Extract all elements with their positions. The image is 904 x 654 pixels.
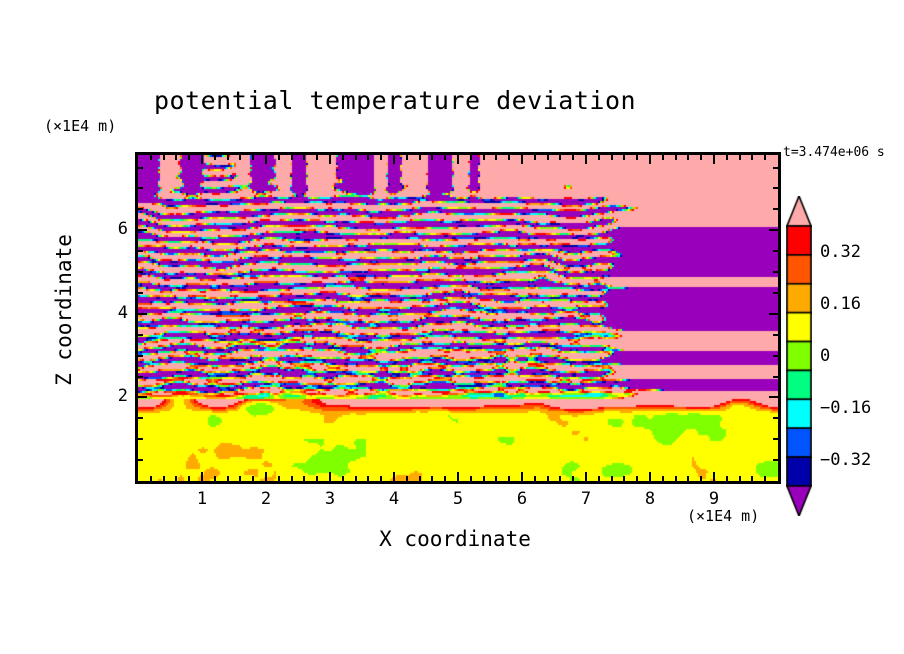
- x-tick-major: [201, 472, 203, 481]
- x-tick-minor: [188, 155, 190, 160]
- y-tick-minor: [773, 292, 778, 294]
- x-tick-label: 6: [507, 489, 537, 509]
- y-tick-label: 2: [98, 386, 128, 406]
- y-tick-minor: [773, 167, 778, 169]
- x-tick-minor: [483, 476, 485, 481]
- x-tick-minor: [636, 476, 638, 481]
- x-tick-minor: [508, 476, 510, 481]
- x-tick-minor: [687, 476, 689, 481]
- x-tick-major: [585, 155, 587, 164]
- y-axis-title: Z coordinate: [52, 210, 76, 410]
- x-tick-minor: [214, 476, 216, 481]
- x-tick-major: [585, 472, 587, 481]
- x-tick-label: 1: [187, 489, 217, 509]
- x-tick-minor: [559, 476, 561, 481]
- y-tick-minor: [773, 271, 778, 273]
- x-tick-minor: [508, 155, 510, 160]
- x-tick-major: [521, 472, 523, 481]
- x-tick-minor: [611, 476, 613, 481]
- x-tick-minor: [239, 155, 241, 160]
- x-tick-minor: [239, 476, 241, 481]
- x-tick-label: 7: [571, 489, 601, 509]
- x-tick-minor: [303, 476, 305, 481]
- x-tick-major: [329, 472, 331, 481]
- x-tick-major: [713, 472, 715, 481]
- x-tick-minor: [188, 476, 190, 481]
- colorbar: [786, 196, 812, 516]
- y-tick-minor: [138, 187, 143, 189]
- contour-field: [138, 155, 778, 481]
- x-tick-label: 8: [635, 489, 665, 509]
- x-tick-major: [713, 155, 715, 164]
- y-tick-major: [769, 396, 778, 398]
- y-tick-minor: [138, 292, 143, 294]
- y-tick-minor: [138, 208, 143, 210]
- y-tick-major: [138, 396, 147, 398]
- x-tick-minor: [163, 155, 165, 160]
- x-tick-minor: [163, 476, 165, 481]
- x-tick-minor: [444, 155, 446, 160]
- y-tick-minor: [138, 355, 143, 357]
- y-tick-minor: [773, 208, 778, 210]
- x-tick-minor: [675, 155, 677, 160]
- x-tick-minor: [726, 155, 728, 160]
- x-tick-major: [457, 472, 459, 481]
- x-tick-minor: [431, 155, 433, 160]
- x-tick-minor: [470, 476, 472, 481]
- x-tick-major: [393, 155, 395, 164]
- plot-area: [135, 152, 781, 484]
- colorbar-label: 0: [820, 346, 830, 366]
- x-tick-minor: [175, 476, 177, 481]
- y-tick-minor: [773, 417, 778, 419]
- y-tick-minor: [138, 334, 143, 336]
- x-tick-minor: [175, 155, 177, 160]
- x-tick-minor: [431, 476, 433, 481]
- x-tick-minor: [623, 155, 625, 160]
- y-tick-minor: [773, 187, 778, 189]
- x-tick-minor: [355, 155, 357, 160]
- x-tick-minor: [598, 155, 600, 160]
- x-tick-major: [649, 472, 651, 481]
- x-tick-minor: [687, 155, 689, 160]
- x-tick-minor: [611, 155, 613, 160]
- page-title: potential temperature deviation: [0, 86, 790, 115]
- x-tick-minor: [534, 155, 536, 160]
- x-tick-minor: [252, 476, 254, 481]
- x-tick-minor: [662, 476, 664, 481]
- y-tick-minor: [773, 438, 778, 440]
- x-tick-minor: [367, 155, 369, 160]
- x-tick-major: [201, 155, 203, 164]
- x-tick-major: [265, 472, 267, 481]
- x-tick-minor: [495, 476, 497, 481]
- x-tick-major: [329, 155, 331, 164]
- x-tick-minor: [252, 155, 254, 160]
- x-tick-minor: [214, 155, 216, 160]
- colorbar-gradient: [786, 196, 812, 516]
- y-tick-major: [138, 313, 147, 315]
- y-tick-major: [769, 229, 778, 231]
- x-tick-minor: [739, 476, 741, 481]
- x-tick-minor: [751, 476, 753, 481]
- y-tick-minor: [773, 334, 778, 336]
- y-tick-minor: [773, 355, 778, 357]
- x-tick-minor: [495, 155, 497, 160]
- colorbar-label: 0.16: [820, 294, 861, 314]
- x-tick-minor: [316, 155, 318, 160]
- x-tick-label: 3: [315, 489, 345, 509]
- x-tick-minor: [547, 155, 549, 160]
- x-tick-minor: [342, 476, 344, 481]
- x-tick-minor: [419, 155, 421, 160]
- x-tick-minor: [406, 476, 408, 481]
- x-tick-major: [457, 155, 459, 164]
- x-tick-minor: [380, 476, 382, 481]
- x-tick-label: 4: [379, 489, 409, 509]
- x-tick-minor: [572, 476, 574, 481]
- x-tick-major: [393, 472, 395, 481]
- y-tick-minor: [773, 250, 778, 252]
- x-tick-minor: [700, 476, 702, 481]
- x-tick-label: 5: [443, 489, 473, 509]
- x-tick-minor: [764, 155, 766, 160]
- y-tick-label: 6: [98, 219, 128, 239]
- x-tick-minor: [419, 476, 421, 481]
- x-tick-minor: [303, 155, 305, 160]
- x-tick-minor: [623, 476, 625, 481]
- figure-canvas: potential temperature deviation (×1E4 m)…: [0, 0, 904, 654]
- y-tick-minor: [138, 438, 143, 440]
- x-tick-minor: [751, 155, 753, 160]
- y-tick-minor: [138, 250, 143, 252]
- colorbar-label: −0.32: [820, 450, 871, 470]
- x-tick-minor: [764, 476, 766, 481]
- x-tick-minor: [355, 476, 357, 481]
- x-tick-minor: [675, 476, 677, 481]
- x-tick-minor: [470, 155, 472, 160]
- y-tick-minor: [138, 271, 143, 273]
- y-tick-major: [769, 313, 778, 315]
- y-tick-minor: [773, 376, 778, 378]
- x-tick-minor: [739, 155, 741, 160]
- x-tick-minor: [598, 476, 600, 481]
- x-tick-minor: [406, 155, 408, 160]
- x-tick-minor: [278, 155, 280, 160]
- x-tick-minor: [700, 155, 702, 160]
- x-tick-minor: [316, 476, 318, 481]
- x-tick-minor: [559, 155, 561, 160]
- x-tick-minor: [291, 155, 293, 160]
- x-tick-minor: [291, 476, 293, 481]
- x-tick-minor: [572, 155, 574, 160]
- x-tick-minor: [380, 155, 382, 160]
- x-tick-label: 9: [699, 489, 729, 509]
- y-axis-unit-label: (×1E4 m): [44, 117, 116, 135]
- y-tick-major: [138, 229, 147, 231]
- y-tick-minor: [138, 376, 143, 378]
- y-tick-minor: [773, 459, 778, 461]
- x-tick-minor: [150, 155, 152, 160]
- time-annotation: t=3.474e+06 s: [783, 145, 885, 160]
- x-tick-minor: [444, 476, 446, 481]
- colorbar-label: 0.32: [820, 242, 861, 262]
- x-tick-minor: [636, 155, 638, 160]
- y-tick-minor: [138, 459, 143, 461]
- x-tick-minor: [547, 476, 549, 481]
- x-tick-minor: [662, 155, 664, 160]
- x-tick-minor: [227, 476, 229, 481]
- x-tick-minor: [278, 476, 280, 481]
- y-tick-minor: [138, 167, 143, 169]
- x-tick-minor: [483, 155, 485, 160]
- x-tick-major: [265, 155, 267, 164]
- y-tick-minor: [138, 417, 143, 419]
- colorbar-label: −0.16: [820, 398, 871, 418]
- x-tick-minor: [534, 476, 536, 481]
- x-tick-minor: [342, 155, 344, 160]
- x-tick-major: [649, 155, 651, 164]
- x-axis-title: X coordinate: [135, 527, 775, 551]
- x-tick-minor: [367, 476, 369, 481]
- x-axis-unit-label: (×1E4 m): [687, 507, 759, 525]
- x-tick-major: [521, 155, 523, 164]
- x-tick-minor: [726, 476, 728, 481]
- x-tick-label: 2: [251, 489, 281, 509]
- x-tick-minor: [227, 155, 229, 160]
- x-tick-minor: [150, 476, 152, 481]
- y-tick-label: 4: [98, 303, 128, 323]
